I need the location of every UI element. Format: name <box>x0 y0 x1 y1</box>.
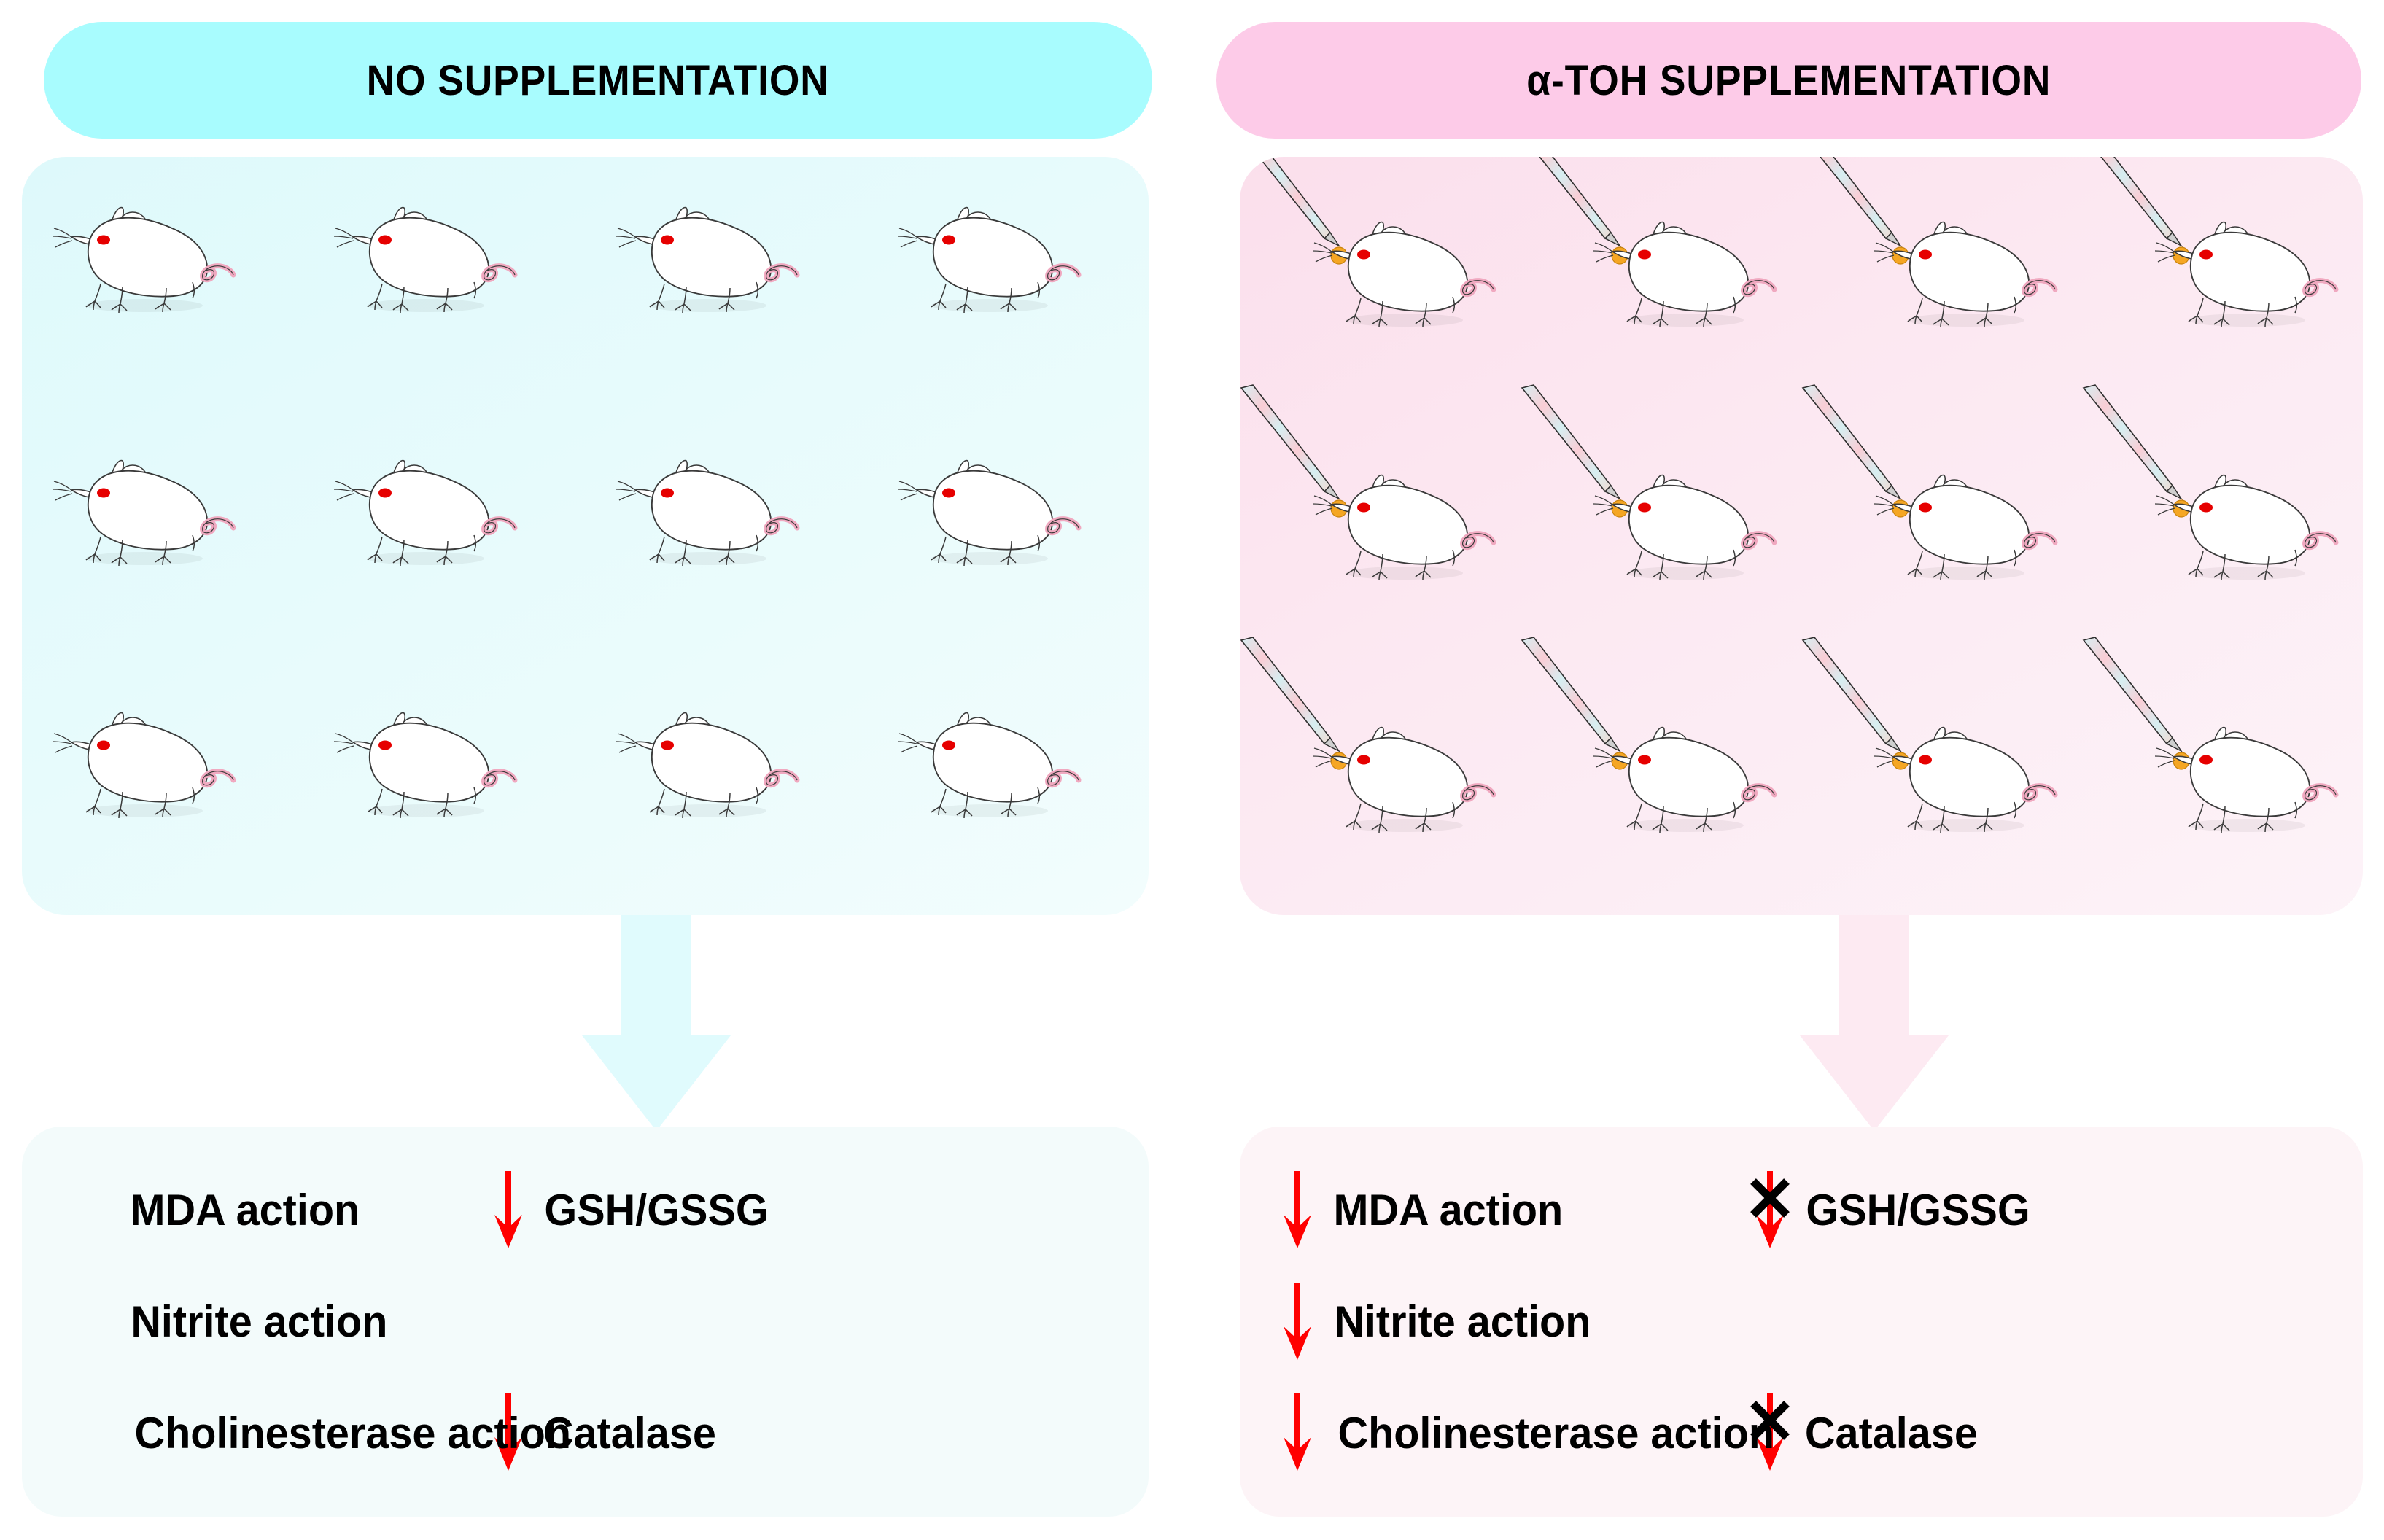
result-label: GSH/GSSG <box>544 1185 768 1235</box>
result-row: MDA action GSH/GSSG <box>1240 1154 2363 1266</box>
result-label: Nitrite action <box>131 1296 387 1347</box>
rat-icon <box>2152 209 2334 333</box>
rat-grid-supplemented <box>1240 157 2363 915</box>
rat-cell <box>586 662 867 915</box>
rat-cell-with-pipette <box>1801 157 2082 410</box>
result-label: MDA action <box>131 1185 360 1235</box>
flow-arrow-left <box>576 915 737 1134</box>
result-row: Cholinesterase action Catalase <box>1240 1377 2363 1489</box>
down-arrow-icon <box>489 1170 528 1251</box>
rat-cell <box>586 410 867 663</box>
result-row: Nitrite action <box>22 1266 1149 1377</box>
rat-icon <box>2152 462 2334 586</box>
rat-icon <box>331 195 513 319</box>
rat-cell-with-pipette <box>1521 662 1801 915</box>
down-arrow-icon <box>1278 1170 1317 1251</box>
down-arrow-icon <box>1278 1392 1317 1474</box>
rat-cell-with-pipette <box>1240 410 1521 663</box>
result-secondary: Catalase <box>1750 1392 1981 1474</box>
rat-icon <box>50 700 232 824</box>
header-no-supplementation: NO SUPPLEMENTATION <box>44 22 1152 139</box>
rat-cell <box>303 410 585 663</box>
rat-cell-with-pipette <box>2082 662 2363 915</box>
rat-icon <box>331 448 513 572</box>
rat-icon <box>895 195 1077 319</box>
animal-panel-supplemented <box>1240 157 2363 915</box>
result-row: MDA action GSH/GSSG <box>22 1154 1149 1266</box>
header-toh-supplementation: α-TOH SUPPLEMENTATION <box>1216 22 2361 139</box>
result-primary: MDA action <box>1240 1170 1750 1251</box>
rat-cell <box>867 410 1149 663</box>
header-left-label: NO SUPPLEMENTATION <box>367 56 829 105</box>
result-label: Cholinesterase action <box>134 1408 571 1458</box>
result-label: Nitrite action <box>1334 1296 1591 1347</box>
result-primary: MDA action <box>22 1170 489 1251</box>
rat-icon <box>613 700 796 824</box>
figure-root: NO SUPPLEMENTATION α-TOH SUPPLEMENTATION <box>0 0 2384 1540</box>
results-box-supplemented: MDA action GSH/GSSG Nitrite actio <box>1240 1127 2363 1517</box>
rat-cell-with-pipette <box>1801 662 2082 915</box>
rat-cell-with-pipette <box>1801 410 2082 663</box>
rat-icon <box>1591 715 1773 839</box>
rat-icon <box>1591 462 1773 586</box>
rat-cell <box>22 662 303 915</box>
rat-grid-control <box>22 157 1149 915</box>
flow-arrow-right <box>1794 915 1954 1134</box>
down-arrow-icon <box>1278 1281 1317 1363</box>
result-primary: Cholinesterase action <box>22 1392 489 1474</box>
rat-icon <box>2152 715 2334 839</box>
results-rows-control: MDA action GSH/GSSG Nitrite action <box>22 1127 1149 1517</box>
rat-cell <box>22 410 303 663</box>
result-row: Cholinesterase action Catalase <box>22 1377 1149 1489</box>
result-secondary: GSH/GSSG <box>1750 1170 2035 1251</box>
rat-icon <box>613 195 796 319</box>
rat-icon <box>1310 209 1492 333</box>
rat-cell-with-pipette <box>1521 157 1801 410</box>
rat-icon <box>1310 462 1492 586</box>
rat-cell-with-pipette <box>1521 410 1801 663</box>
header-right-label: α-TOH SUPPLEMENTATION <box>1526 56 2051 105</box>
rat-icon <box>1871 462 2054 586</box>
result-label: GSH/GSSG <box>1806 1185 2030 1235</box>
rat-icon <box>50 195 232 319</box>
rat-cell <box>586 157 867 410</box>
result-label: Catalase <box>543 1408 716 1458</box>
rat-icon <box>50 448 232 572</box>
result-secondary: GSH/GSSG <box>489 1170 773 1251</box>
rat-cell-with-pipette <box>2082 157 2363 410</box>
rat-cell <box>303 662 585 915</box>
result-label: MDA action <box>1334 1185 1564 1235</box>
rat-cell <box>867 157 1149 410</box>
rat-icon <box>1871 209 2054 333</box>
rat-icon <box>331 700 513 824</box>
result-row: Nitrite action <box>1240 1266 2363 1377</box>
rat-icon <box>1591 209 1773 333</box>
rat-icon <box>895 700 1077 824</box>
results-rows-supplemented: MDA action GSH/GSSG Nitrite actio <box>1240 1127 2363 1517</box>
rat-icon <box>613 448 796 572</box>
rat-cell-with-pipette <box>2082 410 2363 663</box>
rat-icon <box>1310 715 1492 839</box>
result-label: Cholinesterase action <box>1337 1408 1774 1458</box>
animal-panel-control <box>22 157 1149 915</box>
result-label: Catalase <box>1805 1408 1978 1458</box>
rat-icon <box>895 448 1077 572</box>
rat-icon <box>1871 715 2054 839</box>
rat-cell <box>22 157 303 410</box>
rat-cell-with-pipette <box>1240 157 1521 410</box>
rat-cell-with-pipette <box>1240 662 1521 915</box>
result-primary: Nitrite action <box>1240 1281 1750 1363</box>
result-primary: Cholinesterase action <box>1240 1392 1750 1474</box>
rat-cell <box>867 662 1149 915</box>
rat-cell <box>303 157 585 410</box>
result-primary: Nitrite action <box>22 1281 489 1363</box>
results-box-control: MDA action GSH/GSSG Nitrite action <box>22 1127 1149 1517</box>
crossed-down-arrow-icon <box>1750 1170 1790 1251</box>
